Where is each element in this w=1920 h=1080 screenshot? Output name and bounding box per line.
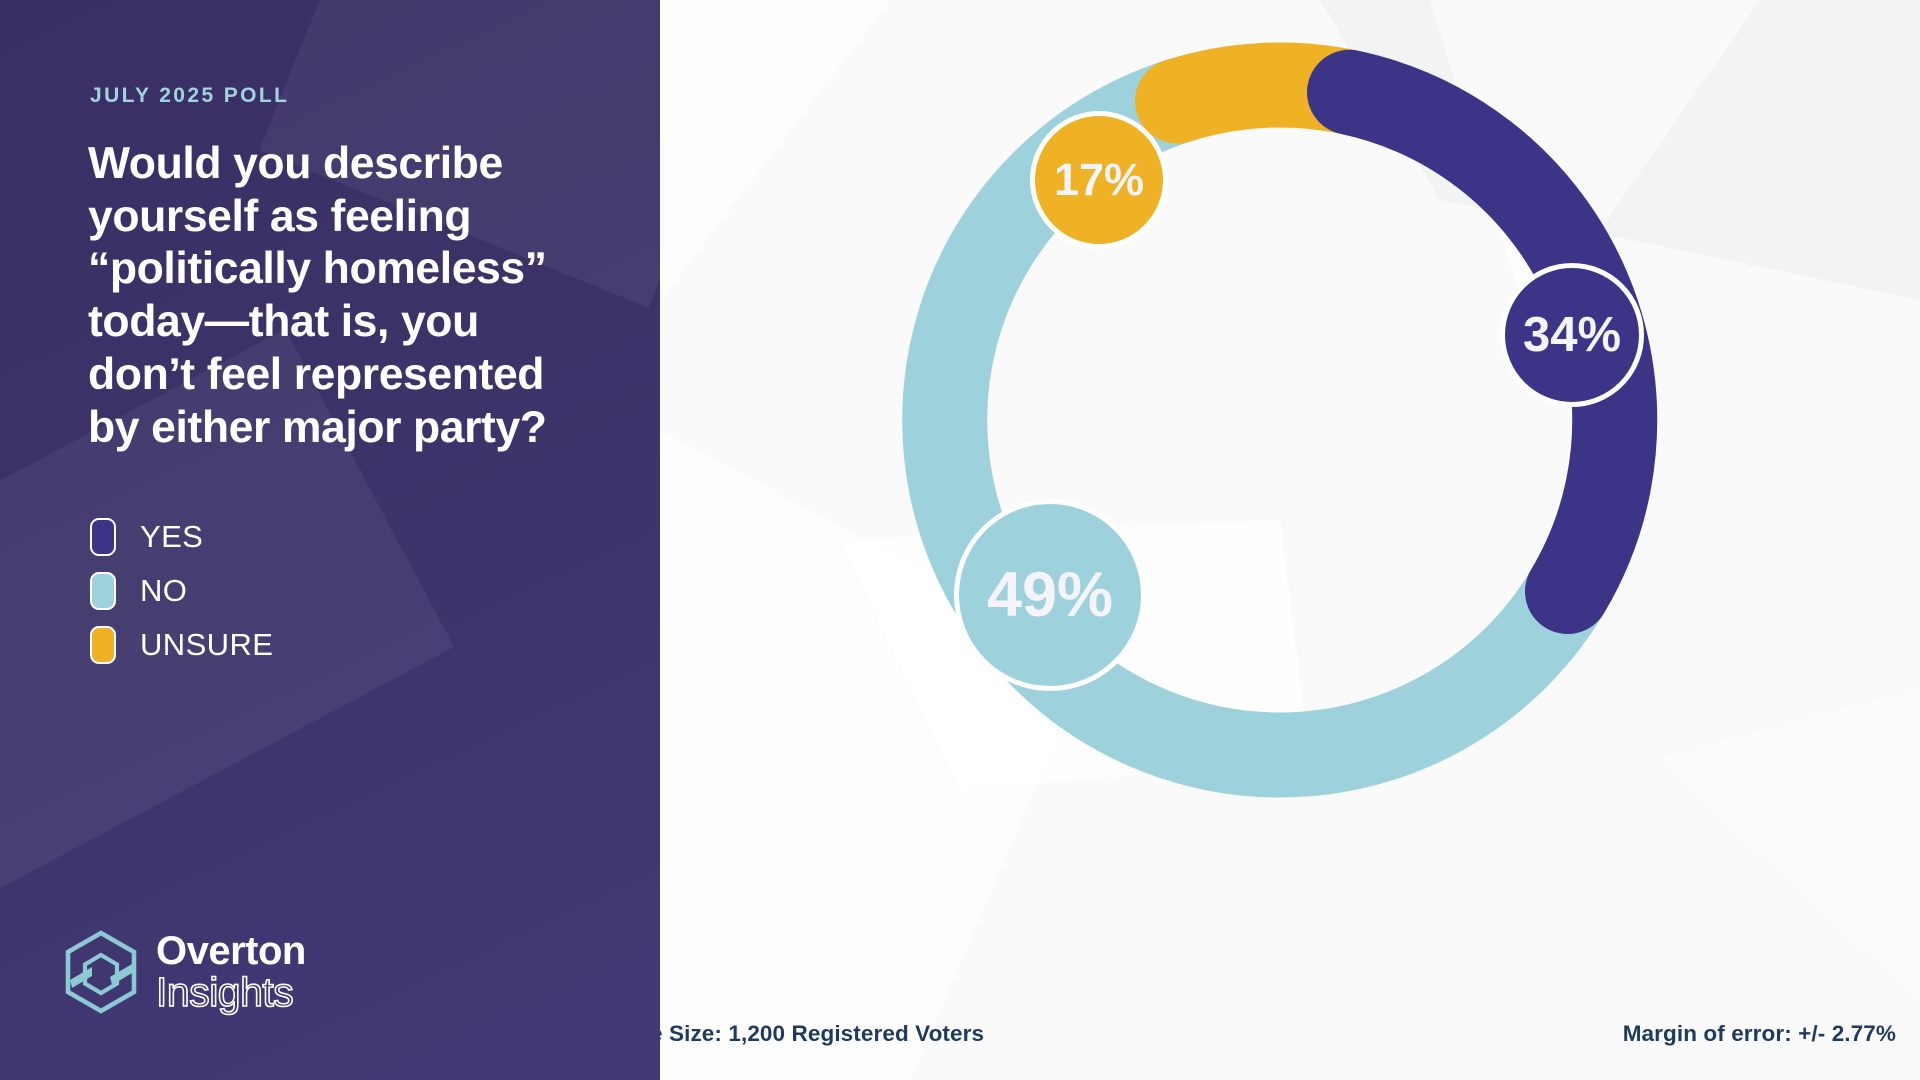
legend-swatch-unsure <box>90 626 116 664</box>
legend-item-no[interactable]: NO <box>90 564 273 618</box>
poll-eyebrow: JULY 2025 POLL <box>90 84 289 108</box>
value-bubble-yes-label: 34% <box>1523 307 1621 363</box>
value-bubble-no-label: 49% <box>987 559 1113 631</box>
legend-label-unsure: UNSURE <box>140 627 273 663</box>
chart-panel: 17% 34% 49% Sample Size: 1,200 Registere… <box>660 0 1920 1080</box>
donut-svg <box>660 0 1920 1080</box>
legend-label-yes: YES <box>140 519 203 555</box>
brand-logo[interactable]: Overton Insights <box>62 930 306 1014</box>
brand-name-bottom: Insights <box>156 972 306 1012</box>
value-bubble-unsure-label: 17% <box>1054 154 1144 206</box>
legend: YES NO UNSURE <box>90 510 273 672</box>
donut-chart: 17% 34% 49% <box>660 0 1920 1080</box>
margin-of-error-note: Margin of error: +/- 2.77% <box>1623 1021 1896 1047</box>
poll-question: Would you describe yourself as feeling “… <box>88 138 588 454</box>
legend-swatch-yes <box>90 518 116 556</box>
left-panel: JULY 2025 POLL Would you describe yourse… <box>0 0 660 1080</box>
value-bubble-yes[interactable]: 34% <box>1500 263 1644 407</box>
overton-hexagon-logo-icon <box>62 930 140 1014</box>
sample-size-note: Sample Size: 1,200 Registered Voters <box>660 1021 984 1047</box>
value-bubble-unsure[interactable]: 17% <box>1030 111 1168 249</box>
brand-wordmark: Overton Insights <box>156 932 306 1012</box>
brand-name-top: Overton <box>156 932 306 970</box>
legend-swatch-no <box>90 572 116 610</box>
legend-item-unsure[interactable]: UNSURE <box>90 618 273 672</box>
infographic-root: JULY 2025 POLL Would you describe yourse… <box>0 0 1920 1080</box>
legend-item-yes[interactable]: YES <box>90 510 273 564</box>
legend-label-no: NO <box>140 573 187 609</box>
value-bubble-no[interactable]: 49% <box>954 499 1146 691</box>
